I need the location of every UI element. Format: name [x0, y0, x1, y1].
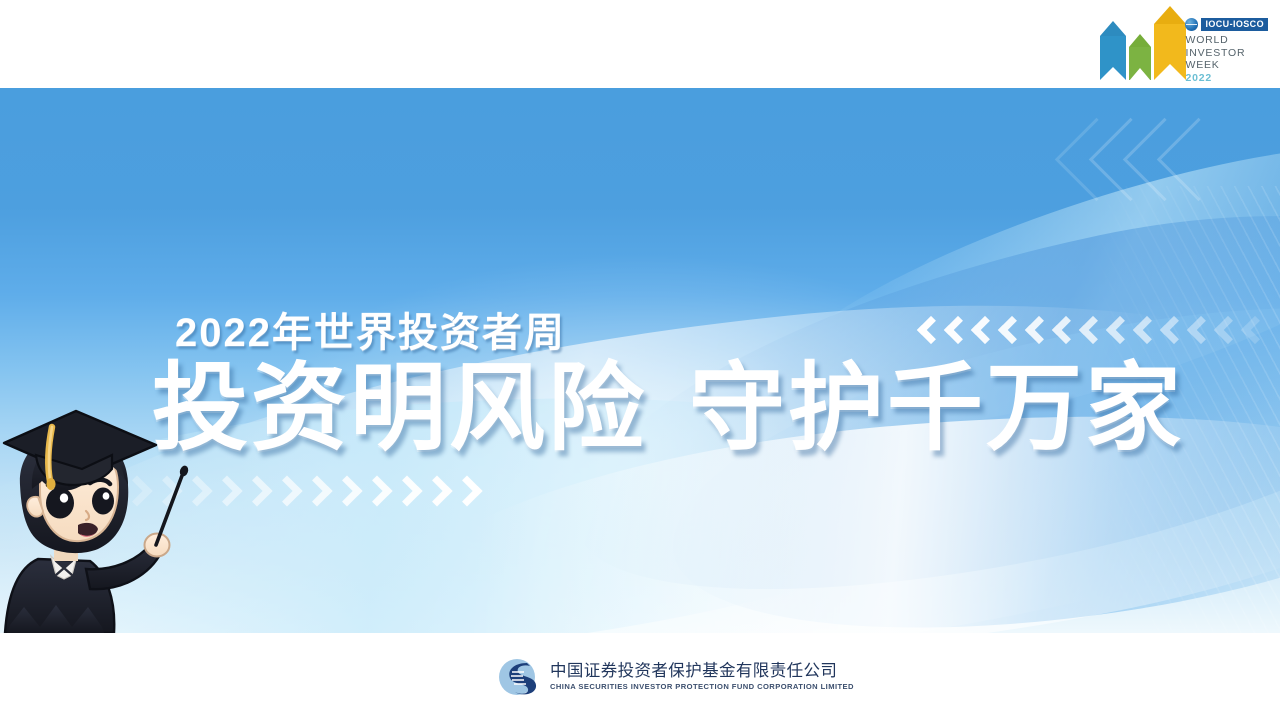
pencil-notch	[1154, 64, 1186, 80]
footer-bar: 中国证券投资者保护基金有限责任公司 CHINA SECURITIES INVES…	[0, 633, 1280, 719]
wiw-week-word: WEEK	[1185, 59, 1268, 72]
chevron-icon	[971, 316, 999, 344]
pencil-body	[1154, 24, 1186, 80]
pencil-notch	[1129, 68, 1151, 81]
wiw-line-investor: INVESTOR	[1185, 47, 1268, 60]
iosco-badge: IOCU-IOSCO	[1185, 18, 1268, 31]
chevron-icon	[1025, 316, 1053, 344]
chevron-icon	[1106, 316, 1134, 344]
pencil-blue-icon	[1100, 21, 1126, 80]
pencil-tip	[1100, 21, 1126, 36]
organization-name-en: CHINA SECURITIES INVESTOR PROTECTION FUN…	[550, 683, 854, 691]
background-chevron-outline	[1123, 118, 1206, 201]
headline-part-2: 守护千万家	[689, 355, 1184, 462]
chevron-strip-right	[921, 320, 1272, 340]
background-chevron-outline	[1089, 118, 1172, 201]
pencil-body	[1100, 36, 1126, 80]
chevron-icon	[421, 475, 452, 506]
background-chevron-outline	[1055, 118, 1138, 201]
three-pencils-icon	[1096, 8, 1179, 86]
top-header-bar: IOCU-IOSCO WORLD INVESTOR WEEK 2022	[0, 0, 1280, 88]
headline-part-1: 投资明风险	[152, 355, 647, 462]
organization-name-cn: 中国证券投资者保护基金有限责任公司	[550, 663, 854, 680]
chevron-icon	[241, 475, 272, 506]
chevron-icon	[1052, 316, 1080, 344]
chevron-icon	[271, 475, 302, 506]
chevron-icon	[1241, 316, 1269, 344]
pencil-yellow-icon	[1154, 6, 1186, 80]
pencil-tip	[1154, 6, 1186, 24]
wiw-logo-text-block: IOCU-IOSCO WORLD INVESTOR WEEK 2022	[1185, 18, 1268, 86]
organization-logo: 中国证券投资者保护基金有限责任公司 CHINA SECURITIES INVES…	[497, 657, 854, 697]
campaign-headline: 投资明风险守护千万家	[152, 360, 1184, 458]
chevron-icon	[1160, 316, 1188, 344]
chevron-icon	[451, 475, 482, 506]
graduate-student-mascot	[0, 393, 208, 633]
background-chevron-outline	[1157, 118, 1240, 201]
wiw-tagline: WORLD INVESTOR WEEK 2022	[1185, 34, 1268, 84]
hero-banner: 2022年世界投资者周 投资明风险守护千万家	[0, 88, 1280, 633]
chevron-icon	[361, 475, 392, 506]
spic-fund-circle-icon	[497, 657, 541, 697]
wiw-line-week-year: WEEK 2022	[1185, 59, 1268, 84]
chevron-icon	[1133, 316, 1161, 344]
wiw-year: 2022	[1185, 72, 1268, 85]
pencil-tip	[1129, 34, 1151, 47]
chevron-icon	[1214, 316, 1242, 344]
chevron-icon	[917, 316, 945, 344]
globe-icon	[1185, 18, 1198, 31]
pointer-stick-icon	[156, 464, 190, 545]
chevron-icon	[1187, 316, 1215, 344]
chevron-icon	[944, 316, 972, 344]
chevron-icon	[211, 475, 242, 506]
chevron-icon	[301, 475, 332, 506]
pencil-notch	[1100, 67, 1126, 80]
chevron-icon	[391, 475, 422, 506]
campaign-subtitle: 2022年世界投资者周	[175, 300, 566, 358]
chevron-icon	[331, 475, 362, 506]
wiw-line-world: WORLD	[1185, 34, 1268, 47]
chevron-icon	[998, 316, 1026, 344]
chevron-icon	[1079, 316, 1107, 344]
iosco-wordmark: IOCU-IOSCO	[1201, 18, 1268, 31]
pencil-green-icon	[1129, 34, 1151, 80]
world-investor-week-logo: IOCU-IOSCO WORLD INVESTOR WEEK 2022	[1096, 4, 1268, 86]
organization-name-block: 中国证券投资者保护基金有限责任公司 CHINA SECURITIES INVES…	[550, 663, 854, 691]
pencil-body	[1129, 47, 1151, 80]
poster-canvas: IOCU-IOSCO WORLD INVESTOR WEEK 2022	[0, 0, 1280, 719]
